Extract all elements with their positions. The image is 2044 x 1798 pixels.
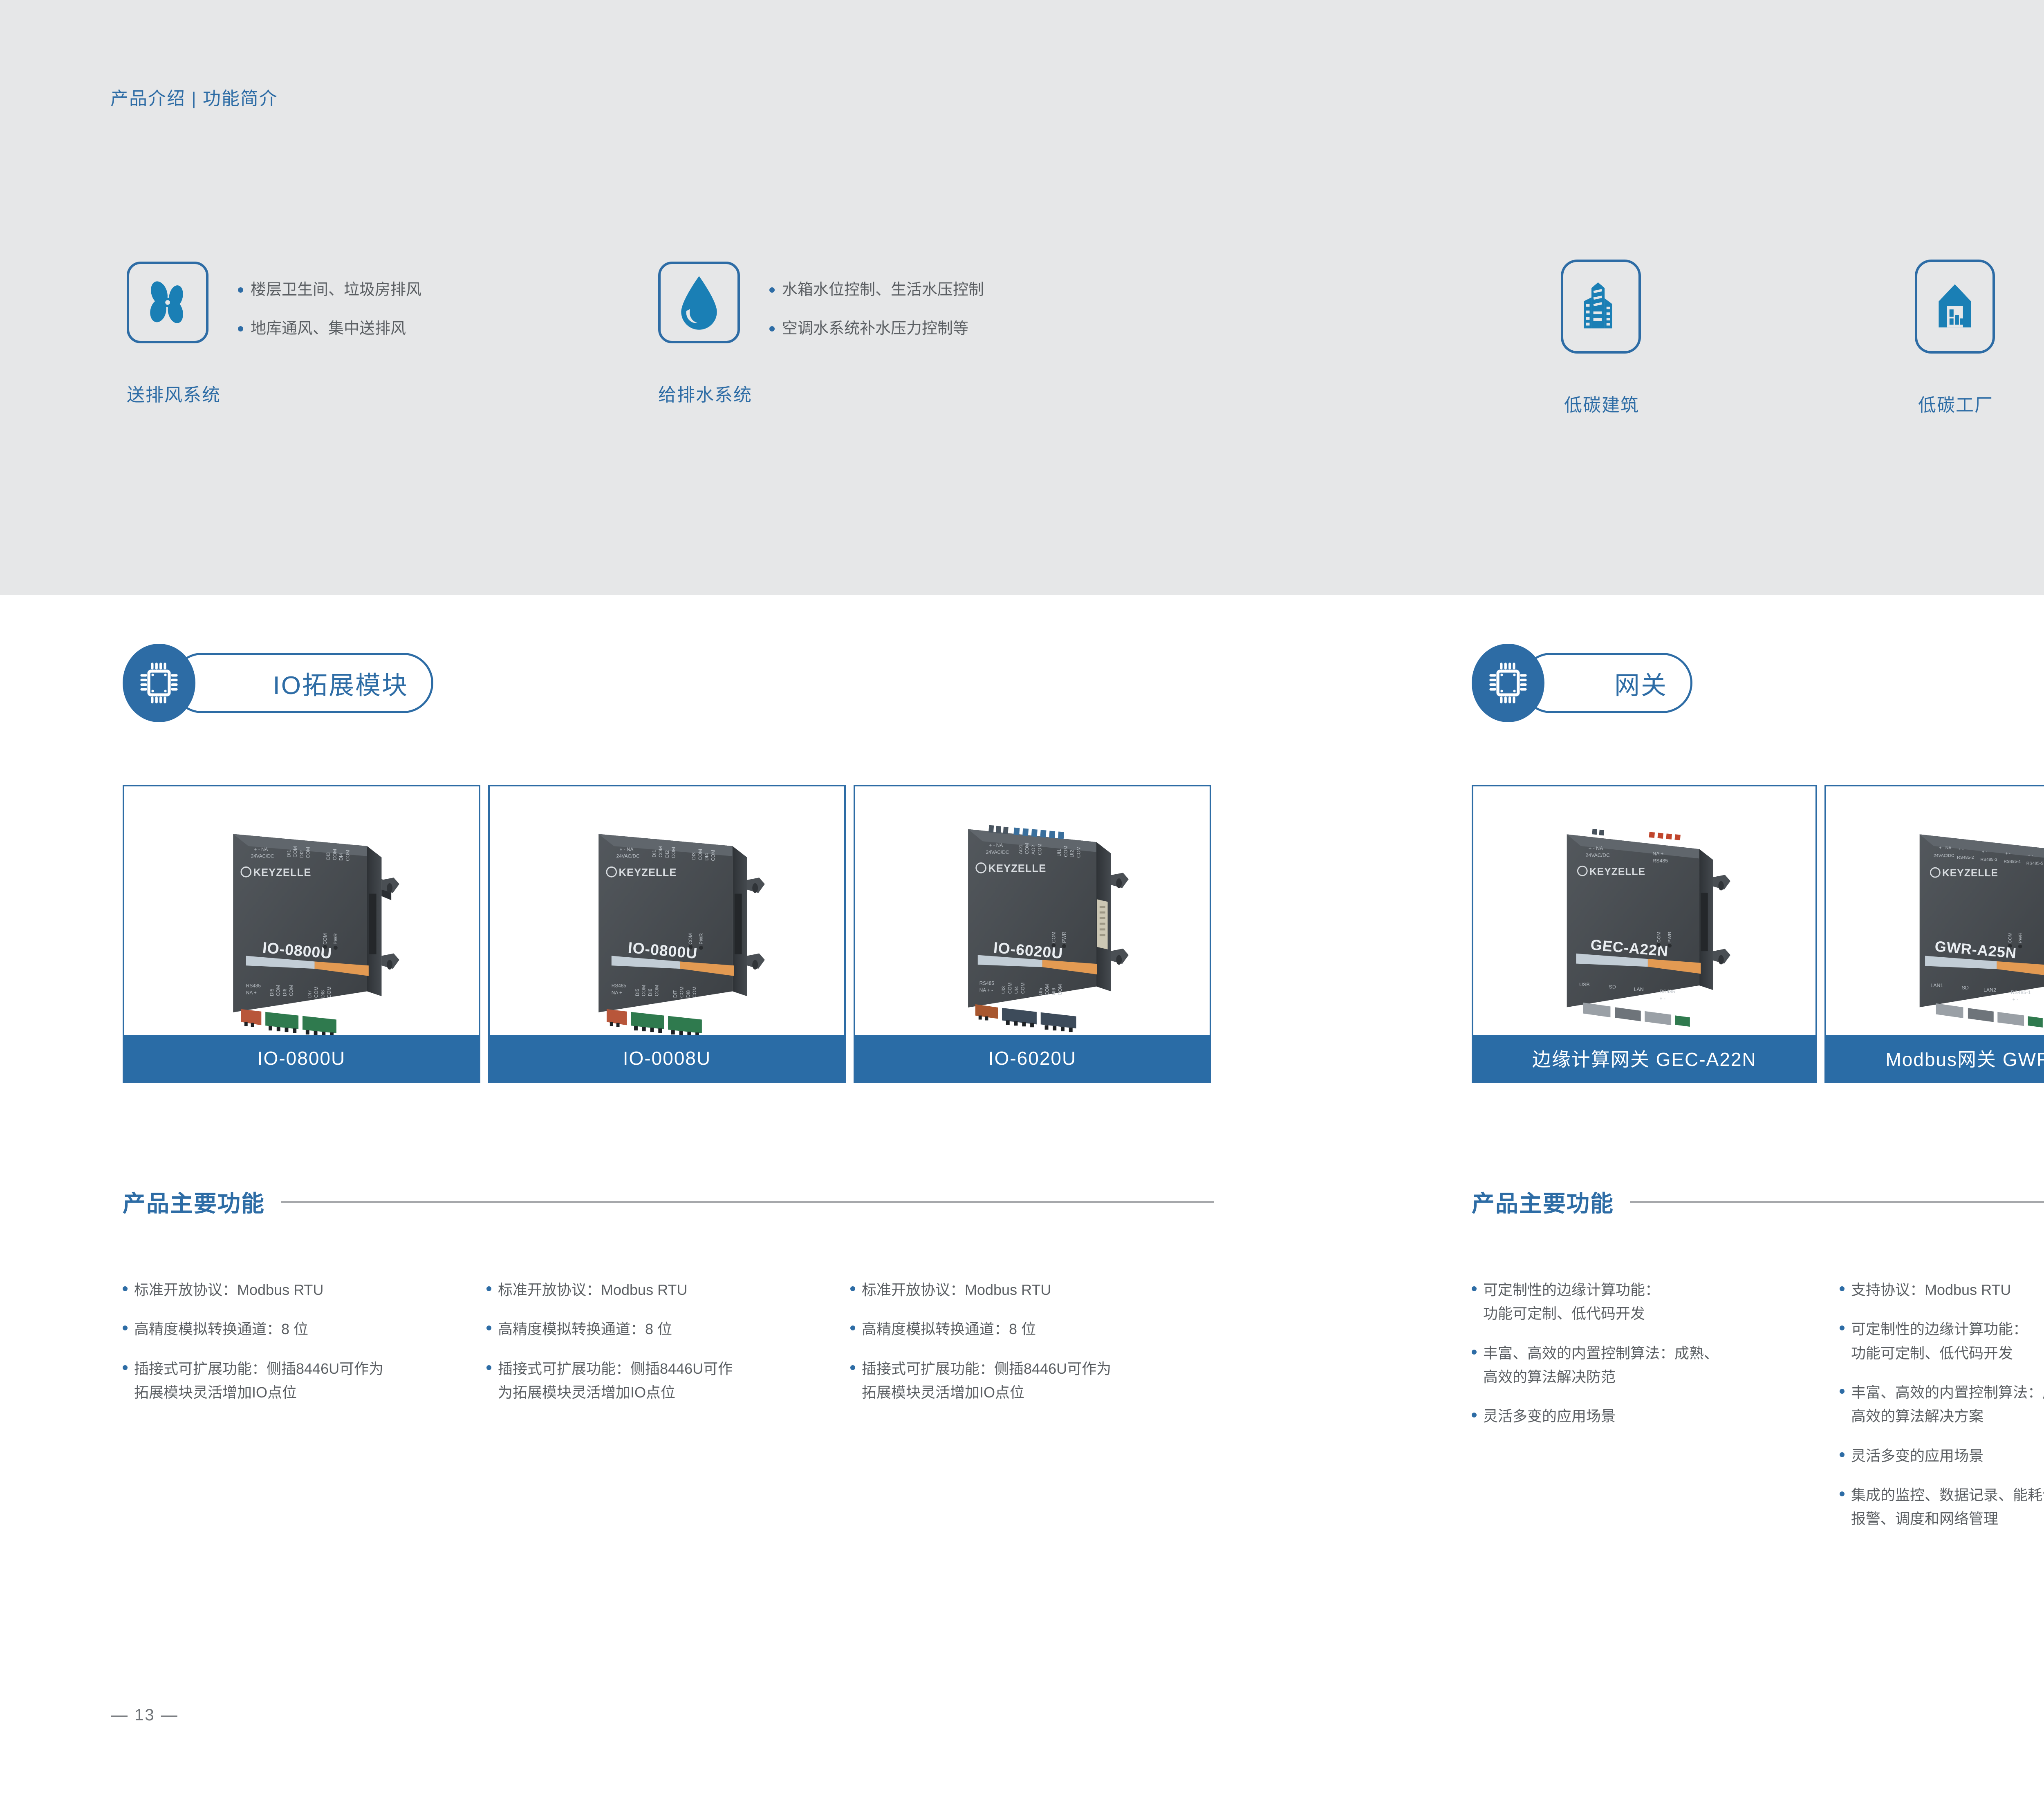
bullet-dot [486,1286,491,1291]
list-item: 高精度模拟转换通道：8 位 [486,1317,850,1341]
svg-text:DI8: DI8 [320,990,325,998]
svg-text:SD: SD [1961,985,1968,990]
svg-text:UI2: UI2 [1069,850,1075,857]
svg-text:DI3: DI3 [325,852,331,860]
bullet-dot [850,1365,855,1370]
svg-text:COM: COM [641,985,647,996]
feature-column: 标准开放协议：Modbus RTU 高精度模拟转换通道：8 位 插接式可扩展功能… [486,1278,850,1420]
svg-text:PWR: PWR [333,933,338,945]
bullet-dot [486,1365,491,1370]
feature-text: 高精度模拟转换通道：8 位 [862,1317,1036,1341]
list-item: 标准开放协议：Modbus RTU [486,1278,850,1302]
features-columns: 标准开放协议：Modbus RTU 高精度模拟转换通道：8 位 插接式可扩展功能… [123,1278,1214,1420]
svg-text:LAN: LAN [1634,986,1644,992]
svg-text:RS485: RS485 [612,983,627,989]
feature-text: 高精度模拟转换通道：8 位 [134,1317,308,1341]
bullet-dot [1472,1286,1477,1291]
section-pill-io: IO拓展模块 [172,653,433,713]
svg-text:+ - NA: + - NA [254,846,268,852]
product-card-row-gateway: KEYZELLE + - NA 24VAC/DC NA + - RS485 GE… [1472,785,2044,1083]
water-drop-icon-frame [658,262,740,343]
svg-text:24VAC/DC: 24VAC/DC [1934,853,1954,858]
feature-text: 灵活多变的应用场景 [1851,1444,1983,1468]
section-title-gateway: 网关 [1614,665,1667,701]
svg-text:+ -: + - [2012,996,2018,1002]
svg-text:+ - NA: + - NA [1589,845,1603,851]
svg-text:DI2: DI2 [299,850,305,858]
bullet-dot [850,1286,855,1291]
bullet-dot [123,1326,128,1330]
list-item: 集成的监控、数据记录、能耗计量、报警、调度和网络管理 [1840,1483,2044,1531]
svg-text:RS485-1: RS485-1 [2010,990,2031,995]
svg-text:RS485-4: RS485-4 [2004,860,2020,864]
svg-text:DI5: DI5 [269,988,275,996]
bullet-dot [850,1326,855,1330]
application-group-ventilation: 楼层卫生间、垃圾房排风 地库通风、集中送排风 送排风系统 [127,262,617,425]
svg-text:DI7: DI7 [672,990,678,998]
chip-icon [1472,644,1544,722]
svg-text:COM: COM [1656,931,1661,943]
svg-text:RS485: RS485 [246,983,261,989]
svg-text:LAN2: LAN2 [1983,987,1996,993]
product-photo: KEYZELLE + - NA 24VAC/DC DI1 COM DI2 COM… [490,786,844,1035]
feature-column: 标准开放协议：Modbus RTU 高精度模拟转换通道：8 位 插接式可扩展功能… [123,1278,486,1420]
svg-text:COM: COM [326,987,332,998]
svg-text:COM: COM [292,846,298,858]
list-item: 标准开放协议：Modbus RTU [123,1278,486,1302]
svg-text:PWR: PWR [2018,932,2023,943]
list-item: 支持协议：Modbus RTU [1840,1278,2044,1302]
feature-text: 集成的监控、数据记录、能耗计量、报警、调度和网络管理 [1851,1483,2044,1531]
svg-text:COM: COM [654,985,659,996]
svg-text:COM: COM [313,987,319,998]
svg-text:RS485-3: RS485-3 [1980,858,1997,862]
page-number-left: — 13 — [111,1706,179,1724]
svg-text:RS485: RS485 [1652,858,1668,864]
carbon-item-building: 低碳建筑 [1561,260,1643,423]
list-item: 高精度模拟转换通道：8 位 [123,1317,486,1341]
svg-text:COM: COM [1037,844,1043,855]
bullet-dot [1840,1389,1845,1394]
feature-column: 可定制性的边缘计算功能：功能可定制、低代码开发 丰富、高效的内置控制算法：成熟、… [1472,1278,1840,1547]
svg-text:RS485: RS485 [979,981,995,986]
device-photo-gwr-a25n: KEYZELLE + - NA + - + - + - + - 24VAC/DC… [1826,786,2044,1035]
bullet-dot [238,287,243,293]
svg-text:COM: COM [1020,983,1026,994]
product-caption: 边缘计算网关 GEC-A22N [1473,1035,1815,1081]
list-item: 高精度模拟转换通道：8 位 [850,1317,1214,1341]
product-card[interactable]: KEYZELLE + - NA 24VAC/DC NA + - RS485 GE… [1472,785,1817,1083]
svg-text:RS485-2: RS485-2 [1957,855,1974,860]
product-photo: KEYZELLE + - NA + - + - + - + - 24VAC/DC… [1826,786,2044,1035]
water-drop-icon [675,274,723,331]
svg-text:+ -: + - [2005,852,2010,856]
svg-text:COM: COM [1057,984,1063,996]
device-photo-io-0800u: KEYZELLE + - NA 24VAC/DC DI1 COM DI2 COM… [124,786,479,1035]
factory-icon [1932,280,1977,334]
list-item: 空调水系统补水压力控制等 [769,318,984,339]
svg-text:24VAC/DC: 24VAC/DC [251,853,274,859]
list-item: 可定制性的边缘计算功能：功能可定制、低代码开发 [1472,1278,1840,1326]
svg-text:COM: COM [305,847,311,858]
device-photo-io-0008u: KEYZELLE + - NA 24VAC/DC DI1 COM DI2 COM… [490,786,844,1035]
svg-text:SD: SD [1609,984,1616,990]
svg-text:COM: COM [658,846,663,858]
section-title-io: IO拓展模块 [273,665,408,701]
list-item: 丰富、高效的内置控制算法：成熟、高效的算法解决方案 [1840,1381,2044,1429]
svg-text:+ - NA: + - NA [620,846,634,852]
application-group-water: 水箱水位控制、生活水压控制 空调水系统补水压力控制等 给排水系统 [658,262,1230,425]
svg-text:AO2: AO2 [1031,845,1036,855]
svg-text:NA + -: NA + - [246,990,260,995]
feature-text: 丰富、高效的内置控制算法：成熟、高效的算法解决防范 [1483,1341,1719,1389]
svg-text:NA + -: NA + - [612,990,625,995]
ventilation-bullet-list: 楼层卫生间、垃圾房排风 地库通风、集中送排风 [238,280,421,340]
features-header: 产品主要功能 [1472,1185,2044,1218]
bullet-dot [1472,1413,1477,1417]
svg-text:COM: COM [710,850,716,861]
bullet-dot [769,287,775,293]
fan-icon [141,276,194,329]
svg-text:KEYZELLE: KEYZELLE [1589,866,1645,877]
svg-text:DI4: DI4 [704,853,710,861]
svg-text:DI4: DI4 [338,853,344,861]
list-item: 灵活多变的应用场景 [1472,1404,1840,1428]
section-pill-gateway: 网关 [1521,653,1692,713]
list-item: 插接式可扩展功能：侧插8446U可作为拓展模块灵活增加IO点位 [850,1357,1214,1405]
svg-text:DI6: DI6 [282,988,287,996]
chip-icon [123,644,195,722]
svg-text:RS485: RS485 [1660,989,1675,994]
product-card[interactable]: KEYZELLE + - NA + - + - + - + - 24VAC/DC… [1824,785,2044,1083]
svg-text:DI2: DI2 [664,850,670,858]
svg-text:+ - NA: + - NA [989,842,1003,848]
svg-text:COM: COM [697,849,703,860]
svg-text:DI7: DI7 [307,990,313,998]
svg-text:DI8: DI8 [685,990,691,998]
carbon-item-factory: 低碳工厂 [1915,260,1997,423]
svg-text:COM: COM [692,987,697,998]
svg-text:COM: COM [671,847,677,858]
features-header: 产品主要功能 [123,1185,1214,1218]
list-item: 可定制性的边缘计算功能：功能可定制、低代码开发 [1840,1317,2044,1365]
water-label: 给排水系统 [658,380,752,406]
product-caption: IO-6020U [855,1035,1210,1081]
feature-text: 丰富、高效的内置控制算法：成熟、高效的算法解决方案 [1851,1381,2044,1429]
svg-text:USB: USB [1579,982,1589,987]
svg-text:DI6: DI6 [647,988,653,996]
svg-text:COM: COM [1063,846,1069,857]
svg-text:PWR: PWR [698,933,704,945]
svg-text:COM: COM [1076,846,1081,858]
svg-text:COM: COM [1024,843,1030,854]
svg-text:24VAC/DC: 24VAC/DC [1585,852,1610,858]
chip-icon-glyph [1487,660,1529,706]
header-rule [281,1201,1214,1203]
svg-text:COM: COM [322,933,328,945]
svg-text:DI5: DI5 [634,988,640,996]
svg-text:UI1: UI1 [1056,849,1062,856]
carbon-factory-label: 低碳工厂 [1918,390,1993,416]
device-photo-io-6020u: KEYZELLE + - NA 24VAC/DC AO1 COM AO2 COM… [855,786,1210,1035]
bullet-dot [769,326,775,331]
feature-text: 灵活多变的应用场景 [1483,1404,1616,1428]
feature-column: 标准开放协议：Modbus RTU 高精度模拟转换通道：8 位 插接式可扩展功能… [850,1278,1214,1420]
svg-text:COM: COM [1044,984,1050,996]
section-badge-gateway: 网关 [1472,644,1717,722]
header-rule [1630,1201,2044,1203]
svg-text:+ -: + - [1959,847,1964,852]
svg-text:DI1: DI1 [286,850,291,857]
fan-icon-frame [127,262,208,343]
feature-text: 插接式可扩展功能：侧插8446U可作为拓展模块灵活增加IO点位 [862,1357,1111,1405]
svg-text:DI3: DI3 [691,852,697,860]
feature-text: 标准开放协议：Modbus RTU [134,1278,323,1302]
svg-text:PWR: PWR [1667,931,1672,943]
svg-text:LAN1: LAN1 [1930,983,1943,988]
svg-text:COM: COM [332,849,338,860]
list-item: 标准开放协议：Modbus RTU [850,1278,1214,1302]
feature-text: 可定制性的边缘计算功能：功能可定制、低代码开发 [1851,1317,2028,1365]
svg-text:KEYZELLE: KEYZELLE [619,867,677,878]
list-item: 楼层卫生间、垃圾房排风 [238,280,421,300]
feature-text: 高精度模拟转换通道：8 位 [498,1317,672,1341]
product-card-row-io: KEYZELLE + - NA 24VAC/DC DI1 COM DI2 COM… [123,785,1214,1083]
svg-text:+ -: + - [2028,853,2033,858]
carbon-building-label: 低碳建筑 [1564,390,1639,416]
office-building-icon [1577,280,1625,334]
bullet-dot [123,1365,128,1370]
ventilation-label: 送排风系统 [127,380,221,406]
svg-text:KEYZELLE: KEYZELLE [1942,868,1998,879]
svg-text:COM: COM [1007,983,1013,994]
chip-icon-glyph [138,660,180,706]
product-caption: Modbus网关 GWR-A25N [1826,1035,2044,1081]
feature-text: 插接式可扩展功能：侧插8446U可作为拓展模块灵活增加IO点位 [498,1357,733,1405]
features-title: 产品主要功能 [123,1185,265,1218]
svg-text:COM: COM [688,933,693,945]
product-photo: KEYZELLE + - NA 24VAC/DC NA + - RS485 GE… [1473,786,1815,1035]
product-caption: IO-0008U [490,1035,844,1081]
list-item: 插接式可扩展功能：侧插8446U可作为拓展模块灵活增加IO点位 [486,1357,850,1405]
bullet-dot [1840,1326,1845,1330]
features-columns: 可定制性的边缘计算功能：功能可定制、低代码开发 丰富、高效的内置控制算法：成熟、… [1472,1278,2044,1547]
svg-text:RS485-5: RS485-5 [2026,862,2043,866]
svg-text:NA + -: NA + - [979,987,993,993]
device-photo-gec-a22n: KEYZELLE + - NA 24VAC/DC NA + - RS485 GE… [1473,786,1815,1035]
svg-text:AO1: AO1 [1018,844,1023,854]
svg-text:COM: COM [2008,932,2013,943]
feature-column: 支持协议：Modbus RTU 可定制性的边缘计算功能：功能可定制、低代码开发 … [1840,1278,2044,1547]
svg-text:UI6: UI6 [1051,987,1056,995]
svg-text:UI5: UI5 [1038,987,1044,995]
feature-text: 支持协议：Modbus RTU [1851,1278,2011,1302]
svg-text:COM: COM [1051,931,1056,943]
product-photo: KEYZELLE + - NA 24VAC/DC AO1 COM AO2 COM… [855,786,1210,1035]
svg-text:+ -: + - [1660,996,1666,1001]
svg-text:UI4: UI4 [1013,986,1019,994]
factory-icon-frame [1915,260,1995,354]
svg-text:NA + -: NA + - [1652,851,1667,857]
office-building-icon-frame [1561,260,1641,354]
list-item: 地库通风、集中送排风 [238,318,421,339]
bullet-dot [238,326,243,331]
product-photo: KEYZELLE + - NA 24VAC/DC DI1 COM DI2 COM… [124,786,479,1035]
features-block-gateway: 产品主要功能 可定制性的边缘计算功能：功能可定制、低代码开发 丰富、高效的内置控… [1472,1185,2044,1547]
feature-text: 标准开放协议：Modbus RTU [498,1278,687,1302]
features-title: 产品主要功能 [1472,1185,1614,1218]
features-block-io: 产品主要功能 标准开放协议：Modbus RTU 高精度模拟转换通道：8 位 插… [123,1185,1214,1420]
svg-text:24VAC/DC: 24VAC/DC [986,849,1009,855]
product-card[interactable]: KEYZELLE + - NA 24VAC/DC DI1 COM DI2 COM… [123,785,480,1083]
product-card[interactable]: KEYZELLE + - NA 24VAC/DC AO1 COM AO2 COM… [854,785,1211,1083]
svg-text:UI3: UI3 [1001,986,1006,994]
svg-text:COM: COM [679,987,684,998]
svg-text:PWR: PWR [1061,931,1067,943]
svg-text:KEYZELLE: KEYZELLE [988,863,1046,874]
bullet-dot [123,1286,128,1291]
list-item: 丰富、高效的内置控制算法：成熟、高效的算法解决防范 [1472,1341,1840,1389]
svg-text:COM: COM [276,985,281,996]
product-caption: IO-0800U [124,1035,479,1081]
product-card[interactable]: KEYZELLE + - NA 24VAC/DC DI1 COM DI2 COM… [488,785,846,1083]
svg-text:COM: COM [288,985,294,996]
feature-text: 标准开放协议：Modbus RTU [862,1278,1051,1302]
water-bullet-list: 水箱水位控制、生活水压控制 空调水系统补水压力控制等 [769,280,984,340]
bullet-dot [486,1326,491,1330]
running-head-left: 产品介绍 | 功能简介 [110,84,278,110]
section-badge-io: IO拓展模块 [123,644,433,722]
list-item: 插接式可扩展功能：侧插8446U可作为拓展模块灵活增加IO点位 [123,1357,486,1405]
svg-text:DI1: DI1 [651,850,657,857]
svg-text:COM: COM [345,850,350,861]
feature-text: 可定制性的边缘计算功能：功能可定制、低代码开发 [1483,1278,1660,1326]
svg-text:+ -: + - [1982,850,1987,854]
bullet-dot [1840,1452,1845,1457]
bullet-dot [1840,1286,1845,1291]
bullet-dot [1840,1491,1845,1496]
feature-text: 插接式可扩展功能：侧插8446U可作为拓展模块灵活增加IO点位 [134,1357,383,1405]
bullet-dot [1472,1350,1477,1355]
svg-text:KEYZELLE: KEYZELLE [253,867,312,878]
svg-text:+ - NA: + - NA [1939,846,1951,850]
list-item: 灵活多变的应用场景 [1840,1444,2044,1468]
svg-text:24VAC/DC: 24VAC/DC [616,853,640,859]
list-item: 水箱水位控制、生活水压控制 [769,280,984,300]
